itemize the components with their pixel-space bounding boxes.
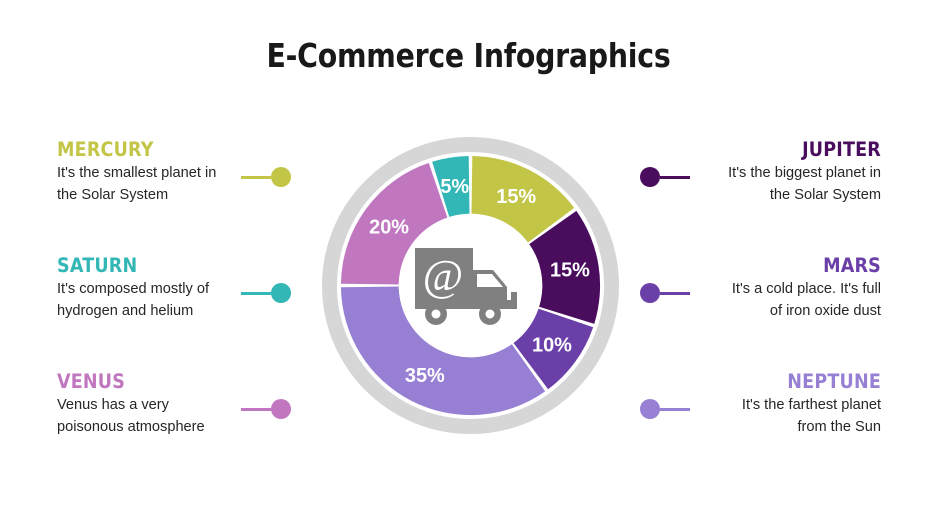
legend-title-mars: MARS xyxy=(700,254,881,278)
legend-desc-mars: It's a cold place. It's full of iron oxi… xyxy=(680,278,881,322)
donut-chart: 15%15%10%35%20%5% @ xyxy=(321,136,620,435)
legend-desc-neptune: It's the farthest planet from the Sun xyxy=(680,394,881,438)
connector-line-mars xyxy=(660,292,690,295)
connector-line-venus xyxy=(241,408,271,411)
at-symbol: @ xyxy=(422,251,463,300)
connector-dot-neptune xyxy=(640,399,660,419)
legend-item-jupiter[interactable]: JUPITER It's the biggest planet in the S… xyxy=(680,138,881,206)
legend-title-venus: VENUS xyxy=(57,370,237,394)
legend-connector-mercury xyxy=(241,167,291,187)
page-title: E-Commerce Infographics xyxy=(66,36,872,75)
legend-connector-jupiter xyxy=(640,167,690,187)
legend-title-saturn: SATURN xyxy=(57,254,237,278)
connector-dot-venus xyxy=(271,399,291,419)
infographic-slide: E-Commerce Infographics MERCURY It's the… xyxy=(0,0,937,527)
slice-label-jupiter: 15% xyxy=(550,260,590,282)
legend-connector-neptune xyxy=(640,399,690,419)
connector-dot-mars xyxy=(640,283,660,303)
legend-connector-mars xyxy=(640,283,690,303)
legend-desc-jupiter: It's the biggest planet in the Solar Sys… xyxy=(680,162,881,206)
delivery-truck-at-icon: @ xyxy=(413,244,529,328)
connector-line-mercury xyxy=(241,176,271,179)
legend-connector-saturn xyxy=(241,283,291,303)
connector-dot-mercury xyxy=(271,167,291,187)
slice-label-neptune: 35% xyxy=(405,365,445,387)
connector-dot-jupiter xyxy=(640,167,660,187)
legend-title-jupiter: JUPITER xyxy=(700,138,881,162)
legend-connector-venus xyxy=(241,399,291,419)
legend-desc-venus: Venus has a very poisonous atmosphere xyxy=(57,394,257,438)
legend-title-neptune: NEPTUNE xyxy=(700,370,881,394)
legend-desc-saturn: It's composed mostly of hydrogen and hel… xyxy=(57,278,257,322)
legend-item-mercury[interactable]: MERCURY It's the smallest planet in the … xyxy=(57,138,257,206)
legend-desc-mercury: It's the smallest planet in the Solar Sy… xyxy=(57,162,257,206)
slice-label-mars: 10% xyxy=(532,335,572,357)
slice-label-venus: 20% xyxy=(369,216,409,238)
truck-glyph: @ xyxy=(413,244,529,328)
legend-item-mars[interactable]: MARS It's a cold place. It's full of iro… xyxy=(680,254,881,322)
legend-item-venus[interactable]: VENUS Venus has a very poisonous atmosph… xyxy=(57,370,257,438)
legend-item-saturn[interactable]: SATURN It's composed mostly of hydrogen … xyxy=(57,254,257,322)
legend-title-mercury: MERCURY xyxy=(57,138,237,162)
connector-line-saturn xyxy=(241,292,271,295)
legend-item-neptune[interactable]: NEPTUNE It's the farthest planet from th… xyxy=(680,370,881,438)
slice-label-mercury: 15% xyxy=(496,186,536,208)
connector-line-jupiter xyxy=(660,176,690,179)
truck-tail xyxy=(511,292,517,309)
truck-wheel-front-hub xyxy=(485,309,494,318)
slice-label-saturn: 5% xyxy=(440,176,469,198)
connector-dot-saturn xyxy=(271,283,291,303)
connector-line-neptune xyxy=(660,408,690,411)
truck-wheel-rear-hub xyxy=(431,309,440,318)
